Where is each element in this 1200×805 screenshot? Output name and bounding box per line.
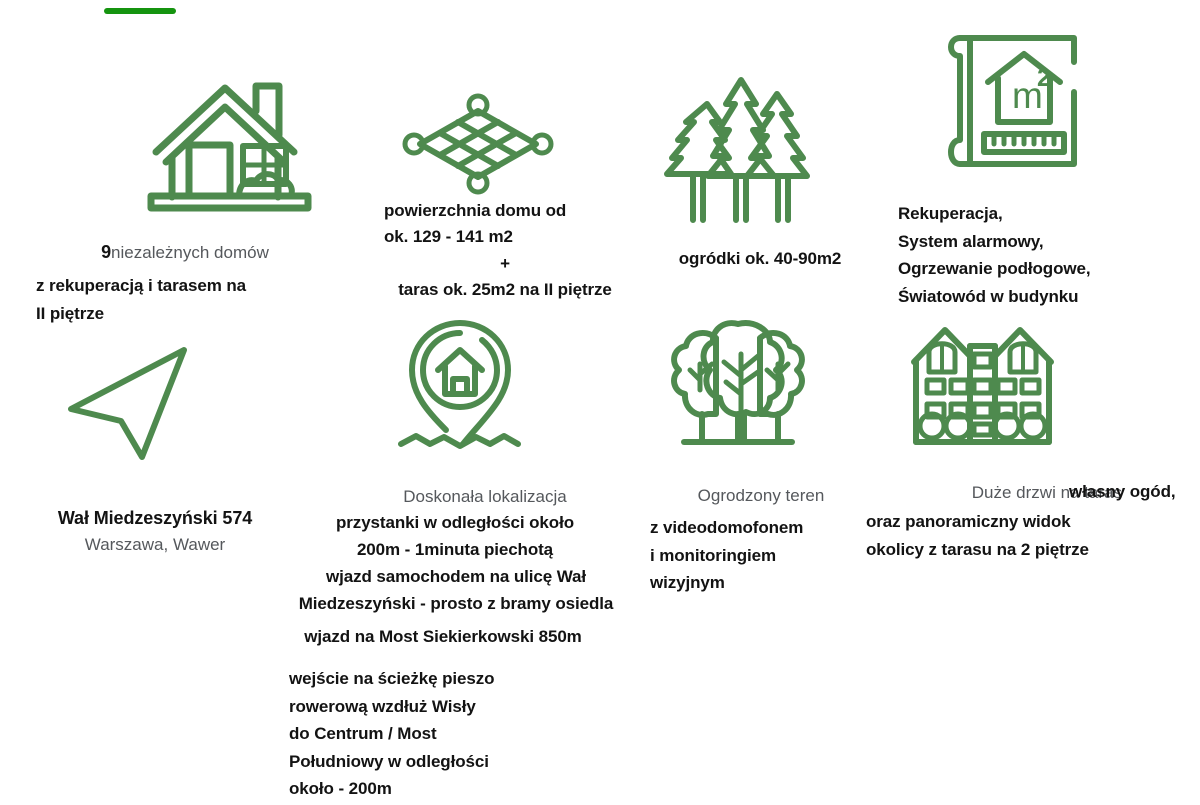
terrace-caption: oraz panoramiczny widok okolicy z tarasu… [866,508,1196,563]
house-icon [148,78,313,218]
area-plus-sign: + [370,251,640,277]
address-city: Warszawa, Wawer [10,532,300,558]
fenced-line-3: wizyjnym [650,569,890,597]
deciduous-trees-icon [668,318,808,458]
location-line-path-2: rowerową wzdłuż Wisły [289,693,619,721]
terrace-line-2: okolicy z tarasu na 2 piętrze [866,536,1196,564]
address-street: Wał Miedzeszyński 574 [10,505,300,532]
location-heading: Doskonała lokalizacja [355,486,615,508]
accent-bar [104,8,176,14]
gardens-caption: ogródki ok. 40-90m2 [640,248,880,270]
installations-caption: Rekuperacja, System alarmowy, Ogrzewanie… [898,200,1188,310]
infographic-canvas: 9niezależnych domów z rekuperacją i tara… [0,0,1200,805]
blueprint-icon: m 2 [936,30,1086,175]
apartment-building-icon [910,312,1055,450]
svg-text:2: 2 [1037,64,1051,92]
area-line-1: powierzchnia domu od [370,198,640,224]
houses-count: 9 [101,242,111,262]
installations-line-4: Światowód w budynku [898,283,1188,311]
area-line-2: ok. 129 - 141 m2 [370,224,640,250]
fenced-caption: z videodomofonem i monitoringiem wizyjny… [650,514,890,597]
fenced-heading: Ogrodzony teren [646,485,876,507]
location-group-path: wejście na ścieżkę pieszo rowerową wzdłu… [289,665,619,803]
area-caption: powierzchnia domu od ok. 129 - 141 m2 + … [370,198,640,303]
location-line-car-2: Miedzeszyński - prosto z bramy osiedla [268,591,644,618]
map-pin-house-icon [398,318,548,458]
location-line-path-3: do Centrum / Most [289,720,619,748]
location-line-stops-2: 200m - 1minuta piechotą [290,537,620,564]
houses-count-label: niezależnych domów [111,243,269,262]
terrace-line-1: oraz panoramiczny widok [866,508,1196,536]
location-line-bridge: wjazd na Most Siekierkowski 850m [270,626,616,648]
location-line-car-1: wjazd samochodem na ulicę Wał [268,564,644,591]
terrace-overlay-label: własny ogód, [1069,482,1200,502]
navigation-arrow-icon [66,345,201,465]
fenced-line-1: z videodomofonem [650,514,890,542]
fenced-line-2: i monitoringiem [650,542,890,570]
location-line-path-5: około - 200m [289,775,619,803]
pine-trees-icon [665,72,820,224]
houses-detail-line-1: z rekuperacją i tarasem na [36,272,366,300]
houses-detail-line-2: II piętrze [36,300,366,328]
installations-line-2: System alarmowy, [898,228,1188,256]
houses-caption: 9niezależnych domów [20,240,350,265]
floor-plan-grid-icon [404,95,552,193]
houses-detail-lines: z rekuperacją i tarasem na II piętrze [36,272,366,327]
location-line-stops-1: przystanki w odległości około [290,510,620,537]
location-line-path-4: Południowy w odległości [289,748,619,776]
location-line-path-1: wejście na ścieżkę pieszo [289,665,619,693]
location-group-car-entry: wjazd samochodem na ulicę Wał Miedzeszyń… [268,564,644,617]
location-group-stops: przystanki w odległości około 200m - 1mi… [290,510,620,563]
location-group-bridge: wjazd na Most Siekierkowski 850m [270,626,616,648]
installations-line-1: Rekuperacja, [898,200,1188,228]
address-caption: Wał Miedzeszyński 574 Warszawa, Wawer [10,505,300,558]
area-line-4: taras ok. 25m2 na II piętrze [370,277,640,303]
installations-line-3: Ogrzewanie podłogowe, [898,255,1188,283]
